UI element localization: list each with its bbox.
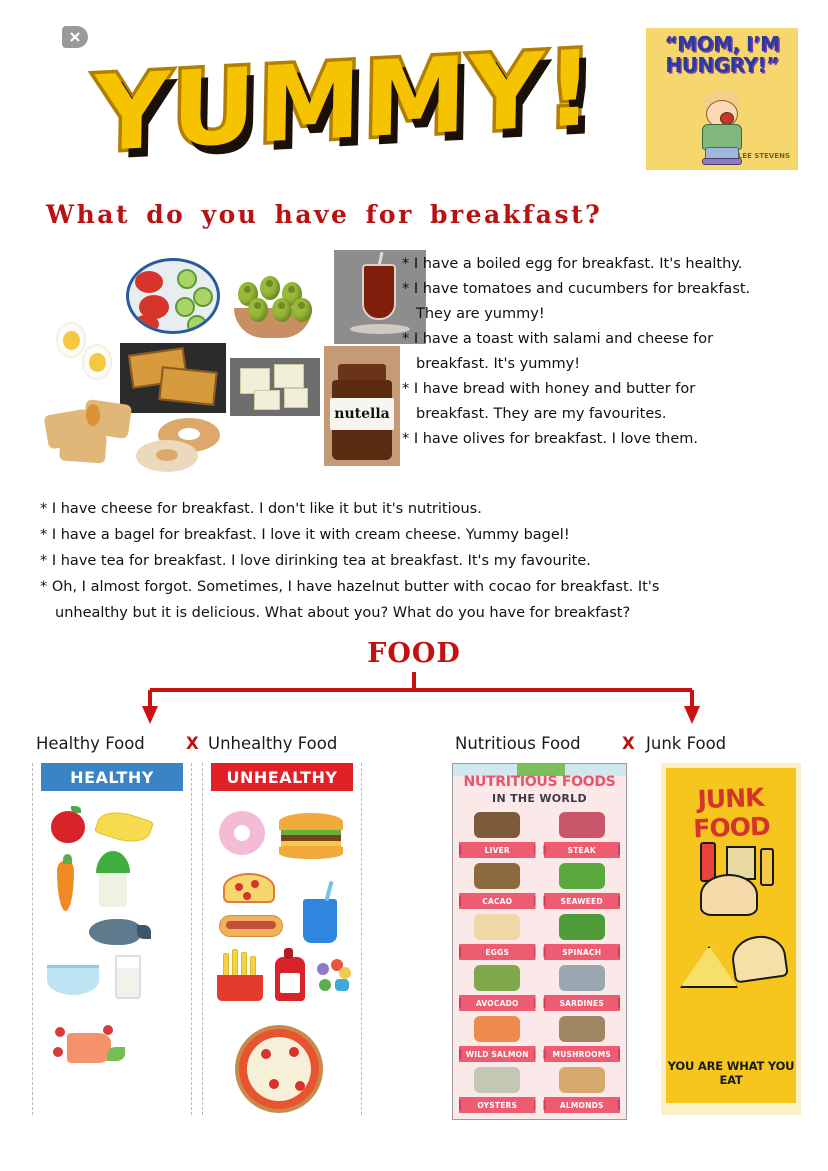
bullet-text: I have bread with honey and butter for xyxy=(414,381,695,397)
bullet-text: I have a boiled egg for breakfast. It's … xyxy=(414,256,743,272)
nutella-label: nutella xyxy=(334,406,389,422)
salmon-plate-icon xyxy=(67,1033,111,1063)
soda-cup-icon xyxy=(303,899,337,943)
bullet-marker: * xyxy=(402,381,409,397)
bullet-text: I have cheese for breakfast. I don't lik… xyxy=(52,501,482,517)
category-separator-x-1: X xyxy=(186,734,199,753)
bullet-text: I have olives for breakfast. I love them… xyxy=(414,431,698,447)
pizza-icon xyxy=(235,1025,323,1113)
bullet-text: I have tea for breakfast. I love dirinki… xyxy=(52,553,591,569)
bullet-text: unhealthy but it is delicious. What abou… xyxy=(55,605,630,621)
bullet-marker: * xyxy=(40,579,47,595)
book-cover-image: “MOM, I’M HUNGRY!” LEE STEVENS xyxy=(646,28,798,170)
list-item: * I have bread with honey and butter for… xyxy=(402,377,802,427)
healthy-unhealthy-comparison: HEALTHY UNHEALTHY xyxy=(32,763,362,1115)
apple-icon xyxy=(51,811,85,843)
nutritious-item: LIVER xyxy=(457,810,538,861)
category-label-row: Healthy Food X Unhealthy Food Nutritious… xyxy=(0,734,828,760)
list-item: * I have a toast with salami and cheese … xyxy=(402,327,802,377)
category-label-nutritious: Nutritious Food xyxy=(455,734,581,753)
category-label-healthy: Healthy Food xyxy=(36,734,145,753)
ribbon-label: CACAO xyxy=(459,893,536,909)
book-author: LEE STEVENS xyxy=(738,152,790,160)
healthy-food-column: HEALTHY xyxy=(32,763,192,1115)
list-item: * I have a boiled egg for breakfast. It'… xyxy=(402,252,802,277)
page-title: What do you have for breakfast? xyxy=(46,200,602,229)
nutritious-items-grid: LIVER STEAK CACAO SEAWEED EGGS SPINACH A… xyxy=(457,810,622,1115)
pizza-slice-icon xyxy=(223,873,275,903)
nutritious-item: SEAWEED xyxy=(542,861,623,912)
list-item: * I have tea for breakfast. I love dirin… xyxy=(40,548,800,574)
bullet-text: Oh, I almost forgot. Sometimes, I have h… xyxy=(52,579,660,595)
photo-boiled-eggs xyxy=(56,316,118,386)
bullet-marker: * xyxy=(402,331,409,347)
bullet-marker: * xyxy=(40,501,47,517)
breakfast-photo-collage: nutella xyxy=(34,248,394,480)
bullet-text: I have tomatoes and cucumbers for breakf… xyxy=(414,281,750,297)
leek-icon xyxy=(99,869,127,907)
ribbon-label: WILD SALMON xyxy=(459,1046,536,1062)
candy-icon xyxy=(315,957,355,1001)
yummy-logo: YUMMY! xyxy=(60,28,630,173)
book-cover-title: “MOM, I’M HUNGRY!” xyxy=(646,34,798,76)
list-item: * Oh, I almost forgot. Sometimes, I have… xyxy=(40,574,800,626)
ribbon-label: OYSTERS xyxy=(459,1097,536,1113)
nutritious-item: CACAO xyxy=(457,861,538,912)
ribbon-label: LIVER xyxy=(459,842,536,858)
breakfast-sentences-wide: * I have cheese for breakfast. I don't l… xyxy=(40,496,800,626)
fries-icon xyxy=(217,953,263,1001)
bullet-marker: * xyxy=(402,281,409,297)
bullet-text: I have a bagel for breakfast. I love it … xyxy=(52,527,570,543)
bullet-marker: * xyxy=(40,527,47,543)
milk-glass-icon xyxy=(115,955,141,999)
bullet-text: breakfast. It's yummy! xyxy=(416,356,580,372)
nutritious-foods-infographic: NUTRITIOUS FOODS IN THE WORLD LIVER STEA… xyxy=(452,763,627,1120)
yummy-logo-text: YUMMY! xyxy=(94,35,597,165)
nutritious-item: STEAK xyxy=(542,810,623,861)
unhealthy-food-column: UNHEALTHY xyxy=(202,763,362,1115)
healthy-banner: HEALTHY xyxy=(41,763,183,791)
nutritious-item: SARDINES xyxy=(542,963,623,1014)
junk-food-tagline: YOU ARE WHAT YOU EAT xyxy=(666,1059,796,1087)
nutritious-item: MUSHROOMS xyxy=(542,1014,623,1065)
bullet-marker: * xyxy=(40,553,47,569)
bullet-text: I have a toast with salami and cheese fo… xyxy=(414,331,713,347)
ribbon-label: MUSHROOMS xyxy=(544,1046,621,1062)
fish-icon xyxy=(89,919,141,945)
photo-white-cheese xyxy=(230,358,320,416)
bullet-marker: * xyxy=(402,431,409,447)
photo-tomato-cucumber-salad xyxy=(120,252,226,340)
category-label-junk: Junk Food xyxy=(646,734,726,753)
carrot-icon xyxy=(57,861,74,911)
list-item: * I have tomatoes and cucumbers for brea… xyxy=(402,277,802,327)
nutritious-item: AVOCADO xyxy=(457,963,538,1014)
bullet-text: They are yummy! xyxy=(416,306,545,322)
nutritious-item: SPINACH xyxy=(542,912,623,963)
category-label-unhealthy: Unhealthy Food xyxy=(208,734,337,753)
junk-food-illustration xyxy=(674,838,788,1008)
ribbon-label: SEAWEED xyxy=(544,893,621,909)
nutritious-item: ALMONDS xyxy=(542,1065,623,1116)
unhealthy-banner: UNHEALTHY xyxy=(211,763,353,791)
ribbon-label: STEAK xyxy=(544,842,621,858)
junk-food-title: JUNK FOOD xyxy=(665,782,797,845)
nutritious-subtitle: IN THE WORLD xyxy=(453,792,626,805)
nutritious-title: NUTRITIOUS FOODS xyxy=(453,774,626,790)
list-item: * I have olives for breakfast. I love th… xyxy=(402,427,802,452)
ketchup-bottle-icon xyxy=(275,957,305,1001)
book-title-line2: HUNGRY!” xyxy=(665,53,778,77)
photo-nutella-jar: nutella xyxy=(324,346,400,466)
food-diagram-arrows xyxy=(0,672,828,730)
ribbon-label: EGGS xyxy=(459,944,536,960)
photo-bread-honey-butter xyxy=(44,388,140,464)
hot-dog-icon xyxy=(219,915,283,937)
ribbon-label: SARDINES xyxy=(544,995,621,1011)
unhealthy-food-icons xyxy=(203,797,361,1111)
salad-bowl-icon xyxy=(47,965,99,995)
food-diagram-title: FOOD xyxy=(0,638,828,669)
list-item: * I have cheese for breakfast. I don't l… xyxy=(40,496,800,522)
donut-icon xyxy=(219,811,265,855)
category-separator-x-2: X xyxy=(622,734,635,753)
breakfast-sentences-right: * I have a boiled egg for breakfast. It'… xyxy=(402,252,802,452)
nutritious-item: OYSTERS xyxy=(457,1065,538,1116)
nutritious-item: WILD SALMON xyxy=(457,1014,538,1065)
healthy-food-icons xyxy=(33,797,191,1111)
photo-olives xyxy=(230,268,316,340)
burger-icon xyxy=(279,813,343,859)
worksheet-page: YUMMY! “MOM, I’M HUNGRY!” LEE STEVENS Wh… xyxy=(0,0,828,1171)
nutritious-item: EGGS xyxy=(457,912,538,963)
junk-food-poster: JUNK FOOD YOU ARE WHAT YOU EAT xyxy=(661,763,801,1115)
list-item: * I have a bagel for breakfast. I love i… xyxy=(40,522,800,548)
ribbon-label: SPINACH xyxy=(544,944,621,960)
banana-icon xyxy=(94,805,154,848)
bullet-text: breakfast. They are my favourites. xyxy=(416,406,666,422)
ribbon-label: AVOCADO xyxy=(459,995,536,1011)
ribbon-label: ALMONDS xyxy=(544,1097,621,1113)
photo-bagel xyxy=(130,416,230,476)
bullet-marker: * xyxy=(402,256,409,272)
